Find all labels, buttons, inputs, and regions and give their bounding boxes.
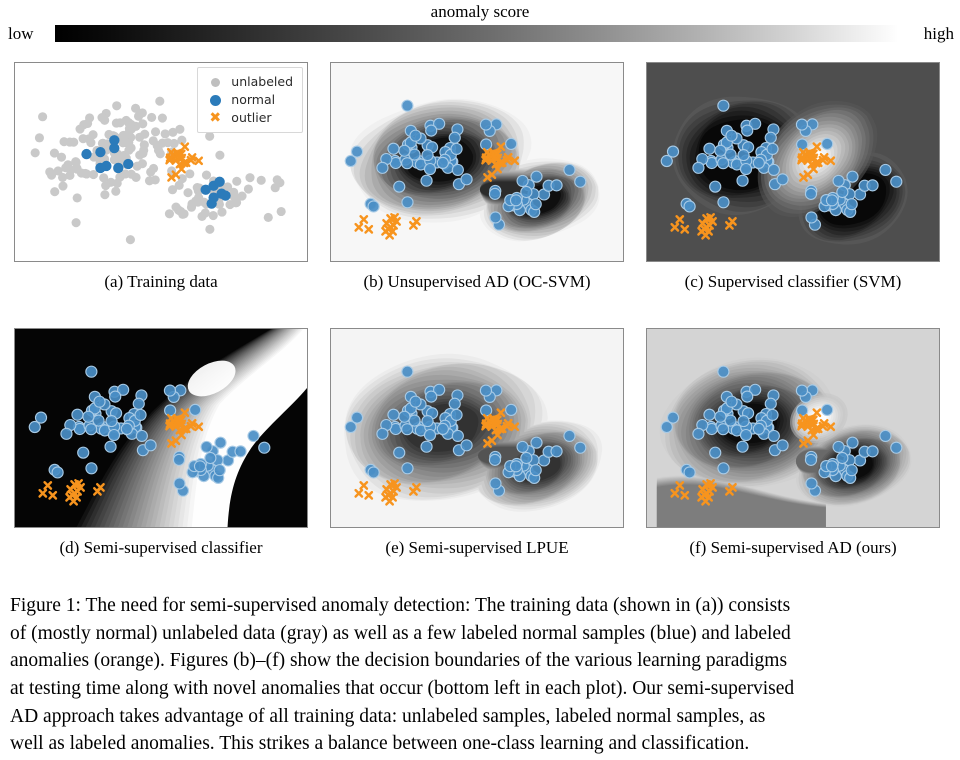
caption-line-5: AD approach takes advantage of all train… <box>10 703 950 731</box>
legend-label-normal: normal <box>231 91 275 109</box>
caption-line-3: anomalies (orange). Figures (b)–(f) show… <box>10 647 950 675</box>
panel-e-semi-supervised-lpue <box>330 328 624 528</box>
legend: unlabeled normal ✖ outlier <box>197 67 303 133</box>
colorbar-low-label: low <box>8 24 34 44</box>
panel-c-supervised-classifier <box>646 62 940 262</box>
caption-line-1: Figure 1: The need for semi-supervised a… <box>10 592 950 620</box>
panel-d-semi-supervised-classifier <box>14 328 308 528</box>
panel-e-contour <box>331 329 623 527</box>
caption-line-2: of (mostly normal) unlabeled data (gray)… <box>10 620 950 648</box>
panel-c-caption: (c) Supervised classifier (SVM) <box>646 272 940 292</box>
panel-f-semi-supervised-ad <box>646 328 940 528</box>
legend-label-outlier: outlier <box>231 109 271 127</box>
panel-b-caption: (b) Unsupervised AD (OC-SVM) <box>330 272 624 292</box>
colorbar: anomaly score low high <box>0 0 960 50</box>
colorbar-gradient <box>55 25 898 42</box>
caption-line-4: at testing time along with novel anomali… <box>10 675 950 703</box>
panel-b-unsupervised-ad <box>330 62 624 262</box>
panel-e-caption: (e) Semi-supervised LPUE <box>330 538 624 558</box>
panel-f-caption: (f) Semi-supervised AD (ours) <box>646 538 940 558</box>
colorbar-title: anomaly score <box>0 2 960 22</box>
panel-c-contour <box>647 63 939 261</box>
unlabeled-marker-icon <box>205 73 225 91</box>
caption-line-6: well as labeled anomalies. This strikes … <box>10 730 950 758</box>
panel-b-contour <box>331 63 623 261</box>
legend-item-normal: normal <box>205 91 293 109</box>
colorbar-high-label: high <box>924 24 954 44</box>
legend-item-unlabeled: unlabeled <box>205 73 293 91</box>
panel-a-caption: (a) Training data <box>14 272 308 292</box>
panel-a-training-data: unlabeled normal ✖ outlier <box>14 62 308 262</box>
legend-label-unlabeled: unlabeled <box>231 73 293 91</box>
panel-f-contour <box>647 329 939 527</box>
legend-item-outlier: ✖ outlier <box>205 109 293 127</box>
normal-marker-icon <box>205 91 225 109</box>
panel-d-caption: (d) Semi-supervised classifier <box>14 538 308 558</box>
outlier-marker-icon: ✖ <box>205 111 225 125</box>
panel-d-contour <box>15 329 307 527</box>
figure-caption: Figure 1: The need for semi-supervised a… <box>10 592 950 758</box>
